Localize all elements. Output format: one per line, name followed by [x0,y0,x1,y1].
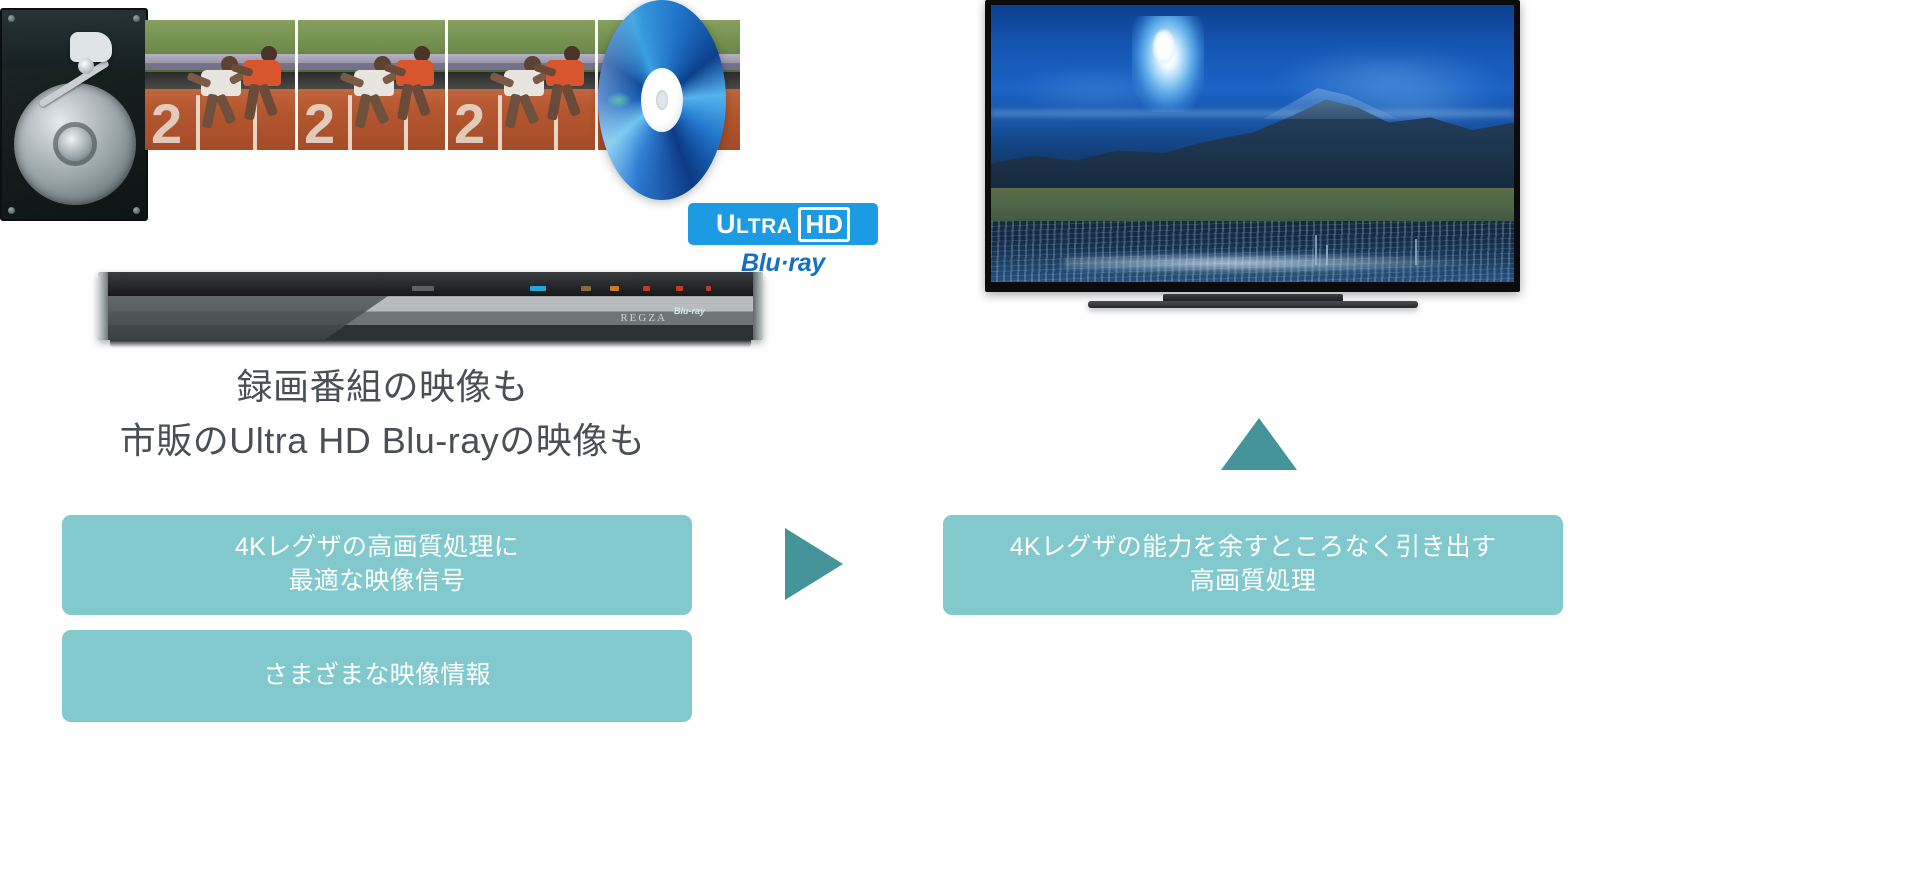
tv-bezel [985,0,1520,292]
left-caption: 録画番組の映像も 市販のUltra HD Blu-rayの映像も [0,360,765,468]
runner-figure [384,46,445,142]
caption-line-1: 録画番組の映像も [0,360,765,414]
recorder-led-cyan [530,286,546,291]
moon-icon [1153,30,1175,64]
runner-figure [231,46,295,142]
recorder-brand-label: REGZA [620,312,667,324]
reed [1326,245,1328,265]
blu-ray-disc-icon [598,0,726,200]
tv-screen [991,5,1514,282]
triangle-up-icon [1221,418,1297,470]
left-box1-line2: 最適な映像信号 [235,565,519,599]
hdd-screw [8,15,15,22]
left-box1-line1: 4Kレグザの高画質処理に [235,531,519,565]
recorder-led-red [643,286,650,291]
blu-ray-recorder-icon: REGZA Blu-ray [98,272,763,350]
film-frame: 2 [295,20,445,150]
recorder-bluray-label: Blu-ray [674,306,705,316]
recorder-led-amber [581,286,591,291]
left-source-column: 2 [0,0,960,883]
recorder-right-edge [753,272,763,340]
triangle-right-icon [785,528,843,600]
tv-stand-base [1088,301,1418,308]
recorder-front-facet [98,296,388,340]
recorder-display [412,286,434,291]
recorder-left-edge [98,272,108,340]
hard-disk-drive-icon [0,8,148,221]
recorder-led-red [706,286,711,291]
right-feature-box-1[interactable]: 4Kレグザの能力を余すところなく引き出す 高画質処理 [943,515,1563,615]
ultra-hd-bluray-logo: ULTRA HD Blu·ray [688,203,878,279]
ultra-hd-logo-bar: ULTRA HD [688,203,878,245]
slide-canvas: 2 [0,0,1920,883]
horizon-glow [991,111,1514,119]
caption-line-2: 市販のUltra HD Blu-rayの映像も [0,414,765,468]
4k-television-icon [985,0,1520,300]
water-reflection [1064,252,1482,274]
film-frame: 2 [445,20,595,150]
left-box2-line1: さまざまな映像情報 [263,659,491,693]
right-box1-line2: 高画質処理 [1010,565,1497,599]
ultra-wordmark: ULTRA [716,209,792,240]
recorder-led-amber [610,286,619,291]
runner-figure [534,46,595,142]
film-frame: 2 [145,20,295,150]
lane-number: 2 [151,91,182,150]
hd-badge: HD [798,207,850,242]
lane-number: 2 [304,91,335,150]
hdd-actuator-arm [26,28,122,120]
reed [1315,235,1317,265]
lane-number: 2 [454,91,485,150]
recorder-led-red [676,286,683,291]
right-box1-line1: 4Kレグザの能力を余すところなく引き出す [1010,531,1497,565]
recorder-chassis: REGZA Blu-ray [98,272,763,340]
hdd-screw [133,15,140,22]
disc-hub [641,68,683,132]
reed [1415,239,1417,265]
recorder-top-panel [98,272,763,296]
hdd-screw [8,207,15,214]
hdd-screw [133,207,140,214]
left-feature-box-2[interactable]: さまざまな映像情報 [62,630,692,722]
recorder-base-shadow [110,340,751,348]
left-feature-box-1[interactable]: 4Kレグザの高画質処理に 最適な映像信号 [62,515,692,615]
